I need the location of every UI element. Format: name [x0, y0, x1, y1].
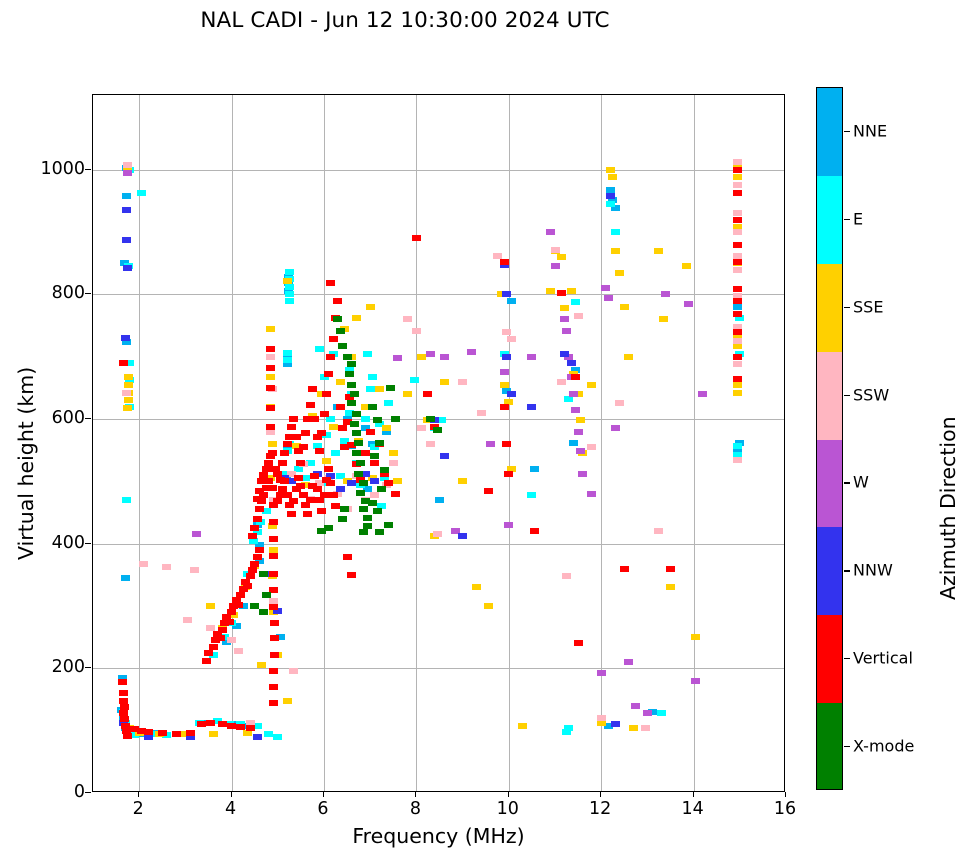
scatter-point-x-mode: [259, 571, 268, 577]
scatter-point-ssw: [433, 531, 442, 537]
scatter-point-vertical: [391, 491, 400, 497]
scatter-point-sse: [615, 270, 624, 276]
scatter-point-ssw: [266, 354, 275, 360]
scatter-point-ssw: [597, 715, 606, 721]
scatter-point-vertical: [119, 710, 128, 716]
scatter-point-sse: [691, 634, 700, 640]
scatter-point-e: [285, 284, 294, 290]
scatter-point-vertical: [412, 235, 421, 241]
scatter-point-vertical: [326, 480, 335, 486]
scatter-point-nne: [435, 497, 444, 503]
scatter-point-sse: [209, 731, 218, 737]
scatter-point-sse: [329, 424, 338, 430]
y-tick-label: 600: [52, 408, 85, 428]
scatter-point-vertical: [118, 679, 127, 685]
scatter-point-nnw: [370, 478, 379, 484]
scatter-point-sse: [352, 315, 361, 321]
scatter-point-ssw: [502, 329, 511, 335]
scatter-point-vertical: [236, 592, 245, 598]
scatter-point-vertical: [269, 553, 278, 559]
scatter-point-vertical: [733, 167, 742, 173]
scatter-point-x-mode: [333, 316, 342, 322]
scatter-data-layer: [93, 95, 784, 791]
scatter-point-vertical: [733, 311, 742, 317]
scatter-point-x-mode: [373, 508, 382, 514]
colorbar-tick-mark: [844, 482, 850, 483]
scatter-point-x-mode: [350, 421, 359, 427]
scatter-point-vertical: [262, 466, 271, 472]
scatter-point-e: [122, 497, 131, 503]
scatter-point-sse: [124, 397, 133, 403]
scatter-point-x-mode: [354, 440, 363, 446]
scatter-point-e: [562, 729, 571, 735]
scatter-point-w: [631, 703, 640, 709]
scatter-point-sse: [322, 458, 331, 464]
scatter-point-ssw: [234, 648, 243, 654]
x-tick-label: 2: [133, 799, 144, 819]
scatter-point-vertical: [273, 498, 282, 504]
scatter-point-vertical: [336, 404, 345, 410]
scatter-point-sse: [403, 391, 412, 397]
scatter-point-w: [500, 369, 509, 375]
y-tick-label: 400: [52, 533, 85, 553]
plot-axes: [92, 94, 785, 792]
scatter-point-ssw: [587, 444, 596, 450]
scatter-point-vertical: [253, 496, 262, 502]
scatter-point-vertical: [343, 554, 352, 560]
scatter-point-x-mode: [356, 460, 365, 466]
y-tick-mark: [85, 543, 91, 544]
scatter-point-nnw: [122, 237, 131, 243]
scatter-point-vertical: [500, 259, 509, 265]
scatter-point-x-mode: [384, 522, 393, 528]
scatter-point-vertical: [329, 492, 338, 498]
scatter-point-w: [467, 349, 476, 355]
scatter-point-nnw: [347, 480, 356, 486]
scatter-point-x-mode: [262, 592, 271, 598]
x-tick-label: 16: [774, 799, 796, 819]
scatter-point-ssw: [641, 725, 650, 731]
x-tick-mark: [785, 792, 786, 797]
colorbar-tick-label-nnw: NNW: [853, 561, 893, 580]
scatter-point-vertical: [236, 724, 245, 730]
colorbar-tick-mark: [844, 219, 850, 220]
scatter-point-vertical: [423, 391, 432, 397]
scatter-point-ssw: [269, 598, 278, 604]
scatter-point-x-mode: [345, 371, 354, 377]
scatter-point-nne: [530, 466, 539, 472]
scatter-point-vertical: [326, 354, 335, 360]
scatter-point-x-mode: [338, 343, 347, 349]
scatter-point-nne: [507, 298, 516, 304]
scatter-point-e: [283, 350, 292, 356]
scatter-point-ssw: [139, 561, 148, 567]
scatter-point-x-mode: [338, 516, 347, 522]
scatter-point-vertical: [338, 425, 347, 431]
scatter-point-ssw: [227, 637, 236, 643]
scatter-point-ssw: [507, 336, 516, 342]
colorbar-segment-nnw: [817, 527, 842, 615]
scatter-point-ssw: [733, 361, 742, 367]
x-tick-mark: [508, 792, 509, 797]
scatter-point-e: [285, 298, 294, 304]
scatter-point-x-mode: [373, 417, 382, 423]
scatter-point-vertical: [306, 402, 315, 408]
scatter-point-nnw: [253, 734, 262, 740]
scatter-point-vertical: [733, 329, 742, 335]
scatter-point-w: [643, 710, 652, 716]
scatter-point-sse: [659, 316, 668, 322]
scatter-point-x-mode: [324, 525, 333, 531]
colorbar-tick-label-nne: NNE: [853, 121, 887, 140]
colorbar-tick-mark: [844, 131, 850, 132]
scatter-point-e: [315, 346, 324, 352]
scatter-point-w: [123, 170, 132, 176]
scatter-point-sse: [283, 278, 292, 284]
scatter-point-vertical: [320, 492, 329, 498]
scatter-point-vertical: [266, 346, 275, 352]
scatter-point-vertical: [530, 528, 539, 534]
scatter-point-sse: [472, 584, 481, 590]
scatter-point-vertical: [234, 602, 243, 608]
x-tick-mark: [600, 792, 601, 797]
scatter-point-vertical: [289, 498, 298, 504]
scatter-point-vertical: [317, 508, 326, 514]
scatter-point-vertical: [246, 725, 255, 731]
scatter-point-vertical: [301, 430, 310, 436]
scatter-point-sse: [382, 425, 391, 431]
colorbar-segment-x-mode: [817, 703, 842, 790]
scatter-point-w: [486, 441, 495, 447]
scatter-point-vertical: [733, 259, 742, 265]
scatter-point-x-mode: [350, 391, 359, 397]
scatter-point-vertical: [269, 668, 278, 674]
scatter-point-vertical: [733, 242, 742, 248]
x-tick-label: 6: [317, 799, 328, 819]
scatter-point-w: [698, 391, 707, 397]
colorbar-tick-label-ssw: SSW: [853, 385, 889, 404]
scatter-point-w: [611, 425, 620, 431]
scatter-point-e: [384, 400, 393, 406]
scatter-point-nnw: [336, 486, 345, 492]
scatter-point-vertical: [733, 190, 742, 196]
scatter-point-vertical: [270, 652, 279, 658]
scatter-point-w: [571, 407, 580, 413]
scatter-point-ssw: [551, 247, 560, 253]
x-tick-mark: [323, 792, 324, 797]
scatter-point-e: [363, 351, 372, 357]
scatter-point-vertical: [158, 730, 167, 736]
x-axis-label: Frequency (MHz): [92, 824, 785, 848]
scatter-point-sse: [268, 441, 277, 447]
scatter-point-vertical: [308, 386, 317, 392]
scatter-point-w: [624, 659, 633, 665]
scatter-point-x-mode: [352, 411, 361, 417]
scatter-point-vertical: [218, 721, 227, 727]
scatter-point-sse: [266, 374, 275, 380]
scatter-point-x-mode: [343, 354, 352, 360]
scatter-point-ssw: [206, 625, 215, 631]
scatter-point-vertical: [289, 416, 298, 422]
scatter-point-ssw: [733, 210, 742, 216]
scatter-point-vertical: [266, 405, 275, 411]
colorbar-segment-e: [817, 176, 842, 264]
scatter-point-nne: [733, 304, 742, 310]
colorbar-tick-label-vertical: Vertical: [853, 649, 913, 668]
scatter-point-ssw: [733, 253, 742, 259]
scatter-point-sse: [666, 584, 675, 590]
scatter-point-vertical: [326, 280, 335, 286]
y-tick-label: 200: [52, 657, 85, 677]
y-tick-mark: [85, 293, 91, 294]
scatter-point-ssw: [733, 338, 742, 344]
scatter-point-vertical: [484, 488, 493, 494]
scatter-point-nne: [121, 575, 130, 581]
colorbar-tick-mark: [844, 307, 850, 308]
scatter-point-sse: [124, 382, 133, 388]
scatter-point-vertical: [322, 391, 331, 397]
page-title: NAL CADI - Jun 12 10:30:00 2024 UTC: [0, 8, 810, 33]
scatter-point-w: [574, 429, 583, 435]
colorbar-label: Azimuth Direction: [936, 416, 958, 600]
scatter-point-x-mode: [359, 506, 368, 512]
scatter-point-e: [285, 269, 294, 275]
scatter-point-w: [426, 351, 435, 357]
scatter-point-x-mode: [250, 603, 259, 609]
scatter-point-vertical: [248, 567, 257, 573]
scatter-point-vertical: [361, 450, 370, 456]
scatter-point-ssw: [654, 528, 663, 534]
x-tick-label: 14: [681, 799, 703, 819]
scatter-point-vertical: [329, 336, 338, 342]
x-tick-label: 12: [589, 799, 611, 819]
scatter-point-w: [576, 448, 585, 454]
scatter-point-w: [587, 491, 596, 497]
scatter-point-vertical: [299, 444, 308, 450]
scatter-point-ssw: [574, 313, 583, 319]
scatter-point-vertical: [144, 729, 153, 735]
scatter-point-nnw: [611, 721, 620, 727]
scatter-point-vertical: [733, 217, 742, 223]
scatter-point-vertical: [266, 365, 275, 371]
scatter-point-x-mode: [354, 471, 363, 477]
scatter-point-w: [393, 355, 402, 361]
scatter-point-sse: [257, 662, 266, 668]
scatter-point-vertical: [119, 690, 128, 696]
scatter-point-vertical: [502, 441, 511, 447]
scatter-point-w: [560, 316, 569, 322]
colorbar-segment-ssw: [817, 352, 842, 440]
scatter-point-sse: [611, 248, 620, 254]
scatter-point-vertical: [206, 720, 215, 726]
scatter-point-vertical: [270, 620, 279, 626]
scatter-point-nnw: [121, 335, 130, 341]
scatter-point-e: [571, 299, 580, 305]
scatter-point-vertical: [197, 721, 206, 727]
scatter-point-vertical: [227, 723, 236, 729]
scatter-point-sse: [269, 547, 278, 553]
scatter-point-vertical: [119, 698, 128, 704]
y-tick-mark: [85, 667, 91, 668]
scatter-point-vertical: [292, 434, 301, 440]
scatter-point-sse: [576, 417, 585, 423]
scatter-point-vertical: [278, 460, 287, 466]
colorbar-tick-label-e: E: [853, 209, 863, 228]
scatter-point-vertical: [384, 480, 393, 486]
x-tick-mark: [231, 792, 232, 797]
scatter-point-vertical: [120, 716, 129, 722]
scatter-point-vertical: [253, 554, 262, 560]
scatter-point-vertical: [276, 477, 285, 483]
scatter-point-w: [562, 328, 571, 334]
scatter-point-w: [684, 301, 693, 307]
scatter-point-w: [597, 670, 606, 676]
colorbar-tick-label-w: W: [853, 473, 869, 492]
colorbar-segment-sse: [817, 264, 842, 352]
scatter-point-vertical: [255, 547, 264, 553]
scatter-point-vertical: [733, 286, 742, 292]
scatter-point-ssw: [190, 567, 199, 573]
x-tick-label: 8: [410, 799, 421, 819]
scatter-point-nnw: [502, 291, 511, 297]
scatter-point-vertical: [500, 404, 509, 410]
scatter-point-sse: [733, 174, 742, 180]
scatter-point-x-mode: [363, 515, 372, 521]
scatter-point-ssw: [733, 229, 742, 235]
scatter-point-vertical: [271, 466, 280, 472]
scatter-point-vertical: [264, 460, 273, 466]
scatter-point-x-mode: [359, 480, 368, 486]
scatter-point-vertical: [283, 441, 292, 447]
scatter-point-w: [527, 354, 536, 360]
scatter-point-x-mode: [352, 450, 361, 456]
scatter-point-vertical: [209, 644, 218, 650]
y-tick-mark: [85, 169, 91, 170]
scatter-point-nnw: [527, 404, 536, 410]
scatter-point-sse: [587, 382, 596, 388]
x-tick-label: 10: [497, 799, 519, 819]
scatter-point-x-mode: [370, 453, 379, 459]
colorbar-segment-vertical: [817, 615, 842, 703]
colorbar-tick-mark: [844, 570, 850, 571]
scatter-point-ssw: [733, 159, 742, 165]
scatter-point-vertical: [620, 566, 629, 572]
scatter-point-vertical: [218, 627, 227, 633]
scatter-point-vertical: [294, 475, 303, 481]
scatter-point-vertical: [255, 506, 264, 512]
scatter-point-vertical: [119, 360, 128, 366]
scatter-point-vertical: [248, 533, 257, 539]
x-tick-mark: [693, 792, 694, 797]
scatter-point-vertical: [123, 733, 132, 739]
colorbar-tick-mark: [844, 658, 850, 659]
scatter-point-vertical: [310, 473, 319, 479]
scatter-point-x-mode: [380, 467, 389, 473]
scatter-point-ssw: [412, 328, 421, 334]
scatter-point-sse: [283, 698, 292, 704]
scatter-point-vertical: [331, 503, 340, 509]
scatter-point-w: [578, 471, 587, 477]
scatter-point-w: [691, 678, 700, 684]
scatter-point-ssw: [557, 379, 566, 385]
colorbar: [816, 87, 843, 790]
scatter-point-vertical: [324, 466, 333, 472]
scatter-point-sse: [123, 405, 132, 411]
scatter-point-vertical: [557, 290, 566, 296]
colorbar-tick-label-sse: SSE: [853, 297, 883, 316]
scatter-point-sse: [518, 723, 527, 729]
scatter-point-e: [410, 377, 419, 383]
scatter-point-vertical: [666, 566, 675, 572]
scatter-point-sse: [608, 174, 617, 180]
scatter-point-vertical: [324, 371, 333, 377]
scatter-point-nne: [569, 440, 578, 446]
scatter-point-ssw: [493, 253, 502, 259]
scatter-point-x-mode: [375, 440, 384, 446]
scatter-point-vertical: [246, 573, 255, 579]
scatter-point-x-mode: [391, 416, 400, 422]
scatter-point-vertical: [320, 411, 329, 417]
scatter-point-vertical: [347, 572, 356, 578]
scatter-point-ssw: [477, 410, 486, 416]
scatter-point-w: [440, 354, 449, 360]
scatter-point-vertical: [266, 424, 275, 430]
scatter-point-ssw: [370, 492, 379, 498]
y-tick-mark: [85, 418, 91, 419]
scatter-point-sse: [440, 379, 449, 385]
scatter-point-x-mode: [359, 529, 368, 535]
scatter-point-sse: [389, 450, 398, 456]
scatter-point-nnw: [567, 360, 576, 366]
scatter-point-vertical: [225, 619, 234, 625]
scatter-point-vertical: [269, 684, 278, 690]
scatter-point-ssw: [417, 425, 426, 431]
scatter-point-nnw: [560, 351, 569, 357]
scatter-point-e: [606, 201, 615, 207]
scatter-point-x-mode: [347, 382, 356, 388]
scatter-point-x-mode: [259, 609, 268, 615]
scatter-point-vertical: [270, 635, 279, 641]
scatter-point-e: [264, 731, 273, 737]
scatter-point-e: [611, 229, 620, 235]
scatter-point-sse: [484, 603, 493, 609]
scatter-point-vertical: [370, 460, 379, 466]
scatter-point-x-mode: [352, 430, 361, 436]
scatter-point-ssw: [403, 316, 412, 322]
scatter-point-vertical: [504, 471, 513, 477]
scatter-point-vertical: [266, 453, 275, 459]
colorbar-tick-mark: [844, 395, 850, 396]
scatter-point-vertical: [574, 640, 583, 646]
scatter-point-sse: [567, 288, 576, 294]
scatter-point-sse: [375, 386, 384, 392]
scatter-point-vertical: [243, 583, 252, 589]
scatter-point-sse: [206, 603, 215, 609]
scatter-point-sse: [560, 305, 569, 311]
scatter-point-e: [527, 492, 536, 498]
colorbar-segment-nne: [817, 88, 842, 176]
scatter-point-ssw: [183, 617, 192, 623]
scatter-point-w: [569, 391, 578, 397]
colorbar-tick-label-x-mode: X-mode: [853, 737, 914, 756]
x-tick-mark: [415, 792, 416, 797]
scatter-point-vertical: [250, 561, 259, 567]
scatter-point-sse: [500, 382, 509, 388]
scatter-point-e: [657, 710, 666, 716]
scatter-point-ssw: [123, 162, 132, 168]
scatter-point-ssw: [162, 564, 171, 570]
scatter-point-sse: [606, 167, 615, 173]
